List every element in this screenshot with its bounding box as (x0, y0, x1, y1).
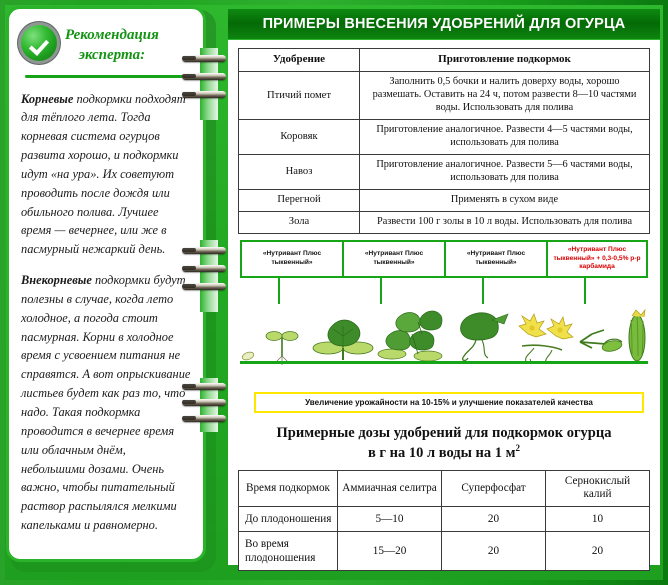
check-circle-icon (21, 25, 57, 61)
cell-preparation-desc: Заполнить 0,5 бочки и налить доверху вод… (360, 71, 650, 119)
table-row: Птичий пометЗаполнить 0,5 бочки и налить… (239, 71, 650, 119)
dosage-table: Время подкормокАммиачная селитраСуперфос… (238, 470, 650, 571)
stage-label-cell: «Нутривант Плюс тыквенный» (342, 240, 444, 278)
expert-title-line-2: эксперта: (65, 45, 159, 65)
main-title-banner: ПРИМЕРЫ ВНЕСЕНИЯ УДОБРЕНИЙ ДЛЯ ОГУРЦА (228, 9, 660, 39)
table-row: КоровякПриготовление аналогичное. Развес… (239, 119, 650, 154)
spiral-ring (182, 415, 226, 422)
dose-title-line-2: в г на 10 л воды на 1 м2 (238, 443, 650, 463)
tick-mark (380, 278, 382, 304)
young-fruit (580, 330, 623, 353)
dose-section-title: Примерные дозы удобрений для подкормок о… (238, 424, 650, 463)
table-header-row: Удобрение Приготовление подкормок (239, 49, 650, 72)
column-header-fertilizer: Удобрение (239, 49, 360, 72)
cell-fertilizer-name: Птичий помет (239, 71, 360, 119)
cell-feeding-time: Во время плодоношения (239, 531, 338, 570)
cotyledon-leaf (313, 320, 373, 360)
cucumber-fruit (629, 310, 645, 361)
paragraph-foliar-feeding: Внекорневые подкормки будут полезны в сл… (21, 271, 191, 535)
cell-dose-value: 5—10 (338, 506, 442, 531)
tick-mark (584, 278, 586, 304)
divider (25, 75, 187, 78)
table-row: До плодоношения5—102010 (239, 506, 650, 531)
table-row: НавозПриготовление аналогичное. Развести… (239, 154, 650, 189)
cell-dose-value: 20 (442, 531, 546, 570)
cell-dose-value: 20 (442, 506, 546, 531)
column-header: Время подкормок (239, 471, 338, 507)
spiral-ring (182, 91, 226, 98)
column-header-preparation: Приготовление подкормок (360, 49, 650, 72)
cell-preparation-desc: Приготовление аналогичное. Развести 5—6 … (360, 154, 650, 189)
spiral-ring (182, 265, 226, 272)
stage-label-row: «Нутривант Плюс тыквенный»«Нутривант Плю… (240, 240, 648, 278)
table-row: ПерегнойПрименять в сухом виде (239, 189, 650, 211)
column-header: Аммиачная селитра (338, 471, 442, 507)
dose-title-superscript: 2 (516, 443, 521, 453)
column-header: Сернокислый калий (546, 471, 650, 507)
page-title: ПРИМЕРЫ ВНЕСЕНИЯ УДОБРЕНИЙ ДЛЯ ОГУРЦА (263, 16, 626, 32)
cell-dose-value: 15—20 (338, 531, 442, 570)
stage-label-cell: «Нутривант Плюс тыквенный» + 0,3-0,5% р-… (546, 240, 648, 278)
expert-title: Рекомендация эксперта: (65, 21, 159, 66)
cell-preparation-desc: Развести 100 г золы в 10 л воды. Использ… (360, 211, 650, 233)
spiral-ring (182, 55, 226, 62)
cell-dose-value: 10 (546, 506, 650, 531)
cell-fertilizer-name: Перегной (239, 189, 360, 211)
expert-body-text: Корневые подкормки подходят для тёплого … (21, 90, 191, 535)
cell-preparation-desc: Применять в сухом виде (360, 189, 650, 211)
tick-mark (278, 278, 280, 304)
vine-leaves (378, 311, 442, 361)
cell-fertilizer-name: Зола (239, 211, 360, 233)
cell-fertilizer-name: Коровяк (239, 119, 360, 154)
paragraph-foliar-feeding-text: подкормки будут полезны в случае, когда … (21, 273, 190, 532)
paragraph-foliar-feeding-lead: Внекорневые (21, 273, 92, 287)
paragraph-root-feeding-text: подкормки подходят для тёплого лета. Тог… (21, 92, 186, 257)
expert-recommendation-card: Рекомендация эксперта: Корневые подкормк… (6, 6, 206, 562)
cell-preparation-desc: Приготовление аналогичное. Развести 4—5 … (360, 119, 650, 154)
cell-dose-value: 20 (546, 531, 650, 570)
diagram-baseline (240, 361, 648, 364)
growth-stage-diagram: «Нутривант Плюс тыквенный»«Нутривант Плю… (240, 240, 648, 390)
expert-header: Рекомендация эксперта: (21, 21, 191, 66)
table-row: Во время плодоношения15—202020 (239, 531, 650, 570)
column-header: Суперфосфат (442, 471, 546, 507)
cell-fertilizer-name: Навоз (239, 154, 360, 189)
paragraph-root-feeding-lead: Корневые (21, 92, 73, 106)
spiral-ring (182, 399, 226, 406)
stage-label-cell: «Нутривант Плюс тыквенный» (444, 240, 546, 278)
flowers (519, 314, 573, 364)
fertilizer-preparation-table: Удобрение Приготовление подкормок Птичий… (238, 48, 650, 234)
expert-title-line-1: Рекомендация (65, 25, 159, 45)
infographic-page: ПРИМЕРЫ ВНЕСЕНИЯ УДОБРЕНИЙ ДЛЯ ОГУРЦА Ре… (0, 0, 668, 585)
seed-sprout (266, 332, 298, 366)
plant-growth-svg (240, 304, 648, 366)
spiral-ring (182, 73, 226, 80)
table-row: ЗолаРазвести 100 г золы в 10 л воды. Исп… (239, 211, 650, 233)
cell-feeding-time: До плодоношения (239, 506, 338, 531)
paragraph-root-feeding: Корневые подкормки подходят для тёплого … (21, 90, 191, 260)
dose-title-line-1: Примерные дозы удобрений для подкормок о… (238, 424, 650, 443)
stage-label-cell: «Нутривант Плюс тыквенный» (240, 240, 342, 278)
spiral-ring (182, 383, 226, 390)
table-header-row: Время подкормокАммиачная селитраСуперфос… (239, 471, 650, 507)
dose-title-line-2-text: в г на 10 л воды на 1 м (368, 445, 516, 461)
plant-illustrations (240, 304, 648, 366)
spiral-ring (182, 247, 226, 254)
tick-mark (482, 278, 484, 304)
spiral-ring (182, 283, 226, 290)
yield-increase-banner: Увеличение урожайности на 10-15% и улучш… (254, 392, 644, 413)
yield-increase-text: Увеличение урожайности на 10-15% и улучш… (305, 398, 593, 407)
stage-tick-marks (240, 278, 648, 304)
leaf-tendril (461, 313, 508, 361)
